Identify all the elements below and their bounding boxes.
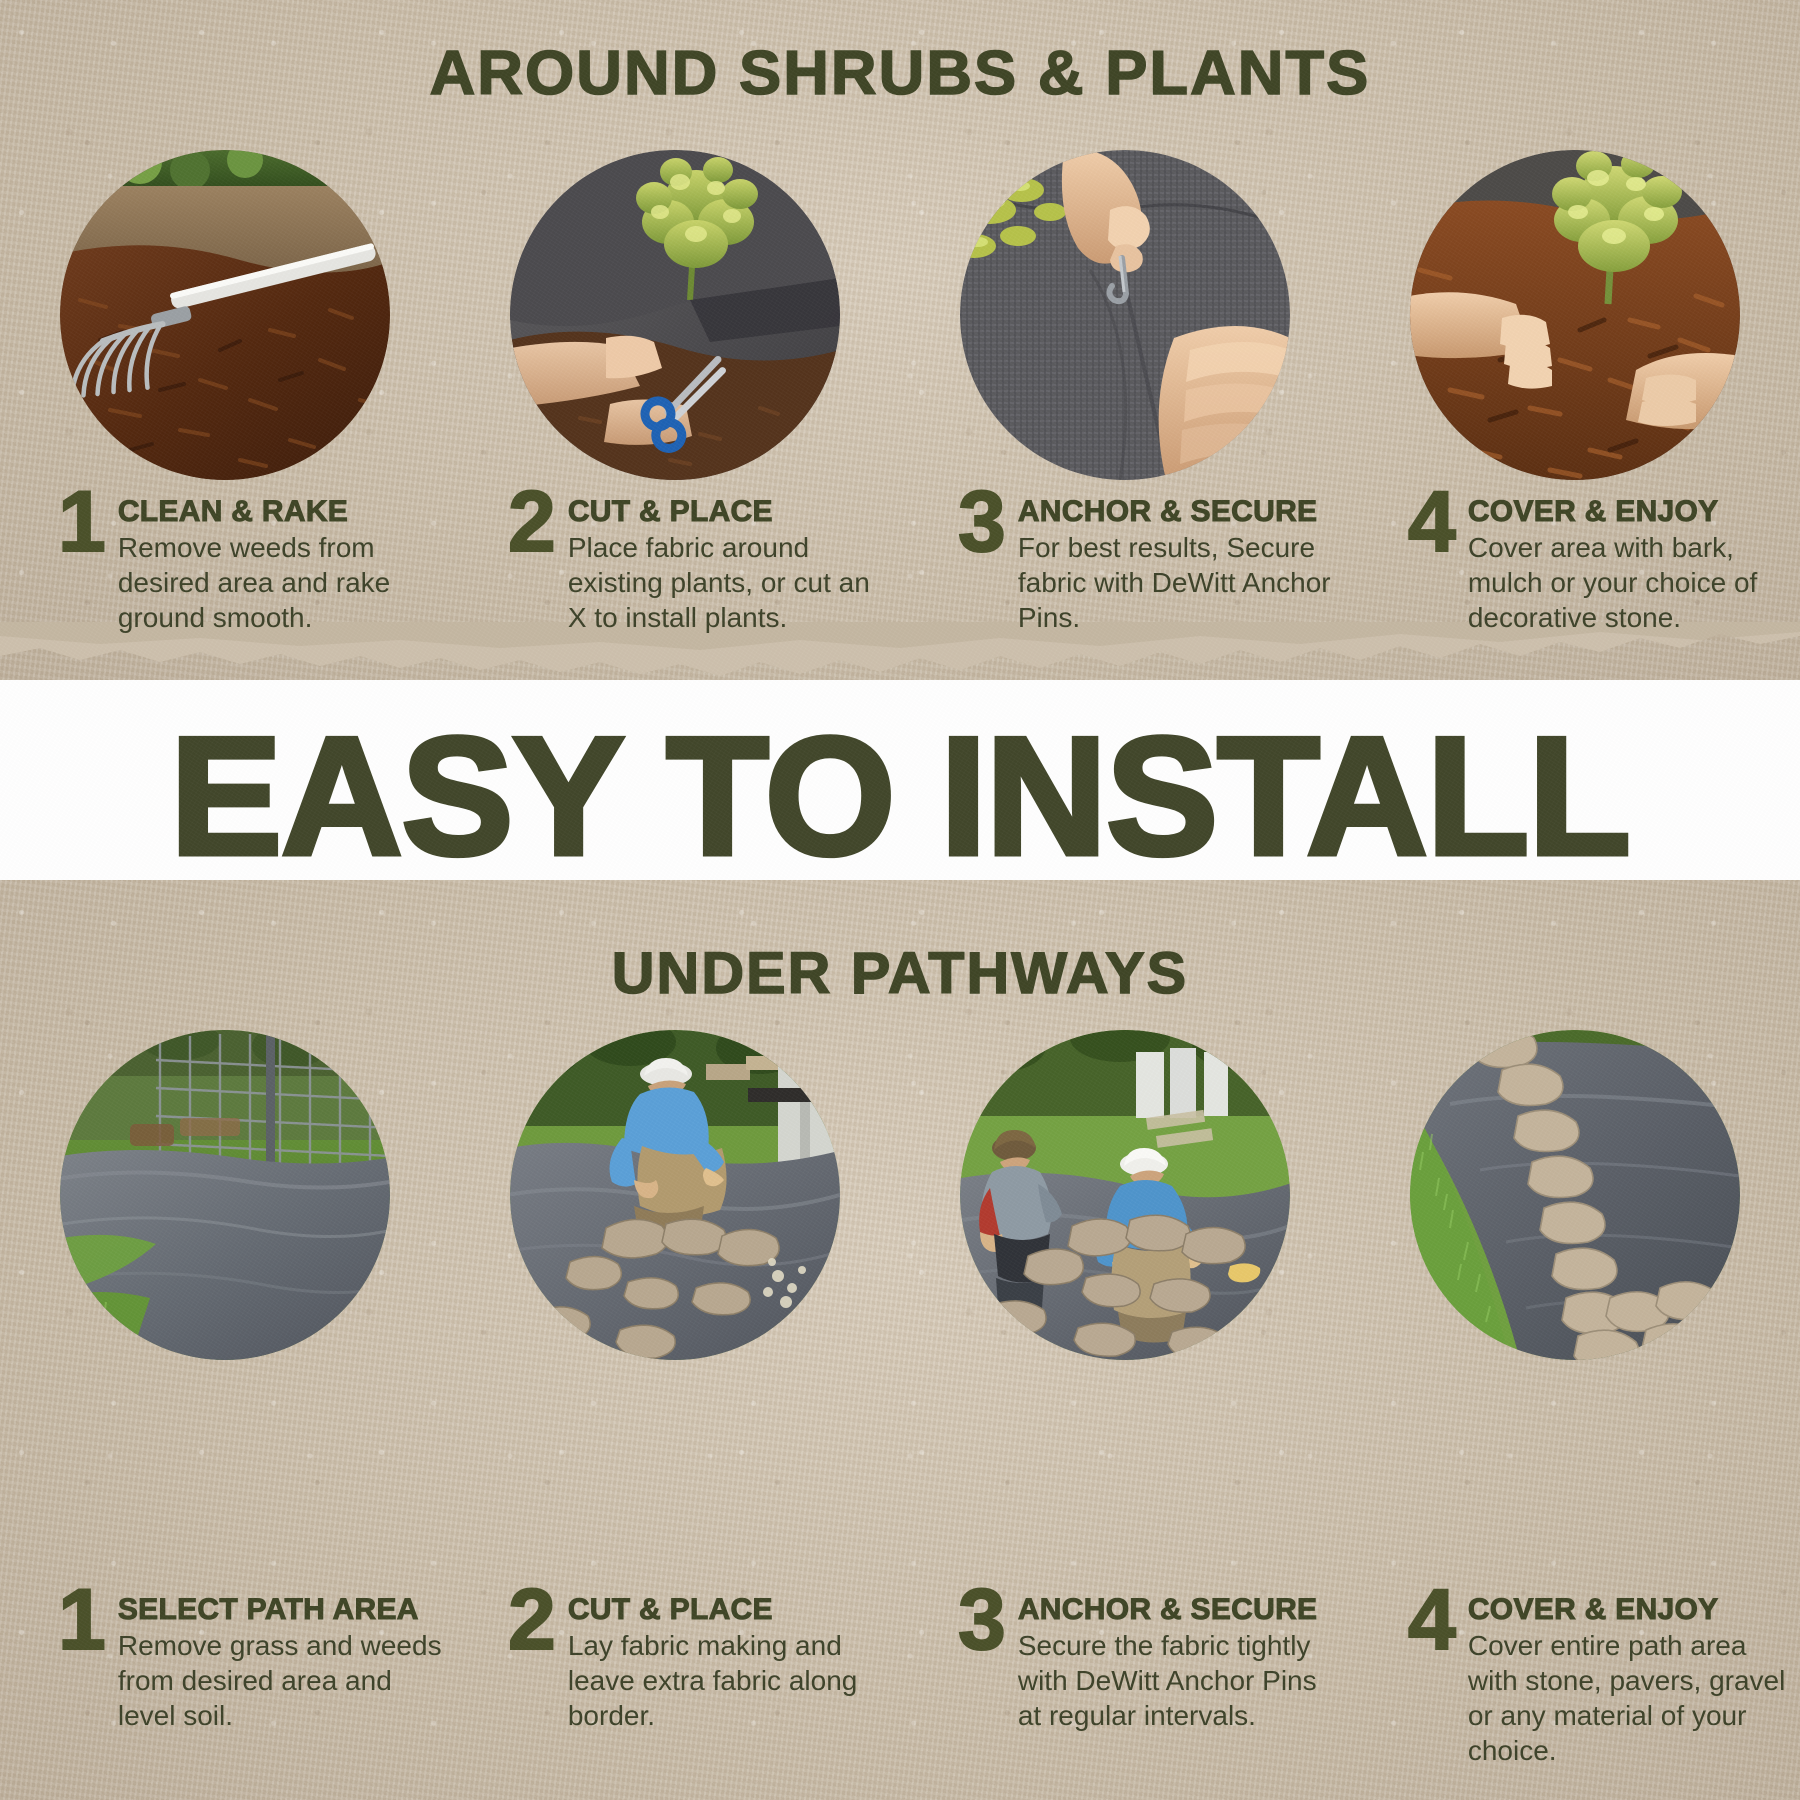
- step-title: COVER & ENJOY: [1468, 1594, 1794, 1626]
- step-title: ANCHOR & SECURE: [1018, 1594, 1344, 1626]
- infographic-poster: AROUND SHRUBS & PLANTS: [0, 0, 1800, 1800]
- step-description: Lay fabric making and leave extra fabric…: [568, 1628, 894, 1733]
- step-description: Secure the fabric tightly with DeWitt An…: [1018, 1628, 1344, 1733]
- step-list-shrubs: 1 CLEAN & RAKE Remove weeds from desired…: [0, 492, 1800, 635]
- photo-cell-shrubs-1: [0, 150, 450, 480]
- step-pathways-4: 4 COVER & ENJOY Cover entire path area w…: [1350, 1590, 1800, 1768]
- step-shrubs-3: 3 ANCHOR & SECURE For best results, Secu…: [900, 492, 1350, 635]
- step-title: CUT & PLACE: [568, 1594, 894, 1626]
- section-title-shrubs: AROUND SHRUBS & PLANTS: [0, 38, 1800, 109]
- step-description: Cover entire path area with stone, paver…: [1468, 1628, 1794, 1768]
- step-title: ANCHOR & SECURE: [1018, 496, 1344, 528]
- main-headline: EASY TO INSTALL: [0, 712, 1800, 880]
- photo-cut-and-place: [510, 150, 840, 480]
- step-number: 2: [508, 1584, 556, 1656]
- step-pathways-2: 2 CUT & PLACE Lay fabric making and leav…: [450, 1590, 900, 1768]
- step-title: SELECT PATH AREA: [118, 1594, 444, 1626]
- step-list-pathways: 1 SELECT PATH AREA Remove grass and weed…: [0, 1590, 1800, 1768]
- photo-cell-pathways-4: [1350, 1030, 1800, 1360]
- photo-cell-shrubs-4: [1350, 150, 1800, 480]
- photo-cover-and-enjoy-path: [1410, 1030, 1740, 1360]
- step-title: CUT & PLACE: [568, 496, 894, 528]
- step-description: Remove weeds from desired area and rake …: [118, 530, 444, 635]
- photo-anchor-and-secure-path: [960, 1030, 1290, 1360]
- photo-cell-shrubs-2: [450, 150, 900, 480]
- step-number: 2: [508, 486, 556, 558]
- step-shrubs-4: 4 COVER & ENJOY Cover area with bark, mu…: [1350, 492, 1800, 635]
- step-description: Remove grass and weeds from desired area…: [118, 1628, 444, 1733]
- photo-cell-shrubs-3: [900, 150, 1350, 480]
- step-title: COVER & ENJOY: [1468, 496, 1794, 528]
- step-description: Cover area with bark, mulch or your choi…: [1468, 530, 1794, 635]
- step-number: 3: [958, 486, 1006, 558]
- step-pathways-1: 1 SELECT PATH AREA Remove grass and weed…: [0, 1590, 450, 1768]
- photo-anchor-and-secure: [960, 150, 1290, 480]
- photo-clean-and-rake: [60, 150, 390, 480]
- step-pathways-3: 3 ANCHOR & SECURE Secure the fabric tigh…: [900, 1590, 1350, 1768]
- photo-cell-pathways-2: [450, 1030, 900, 1360]
- step-description: Place fabric around existing plants, or …: [568, 530, 894, 635]
- photo-select-path-area: [60, 1030, 390, 1360]
- photo-cut-and-place-path: [510, 1030, 840, 1360]
- photo-cover-and-enjoy: [1410, 150, 1740, 480]
- step-number: 1: [58, 1584, 106, 1656]
- step-title: CLEAN & RAKE: [118, 496, 444, 528]
- section-title-pathways: UNDER PATHWAYS: [0, 940, 1800, 1007]
- step-shrubs-1: 1 CLEAN & RAKE Remove weeds from desired…: [0, 492, 450, 635]
- photo-cell-pathways-3: [900, 1030, 1350, 1360]
- photo-cell-pathways-1: [0, 1030, 450, 1360]
- step-description: For best results, Secure fabric with DeW…: [1018, 530, 1344, 635]
- step-shrubs-2: 2 CUT & PLACE Place fabric around existi…: [450, 492, 900, 635]
- step-number: 4: [1408, 1584, 1456, 1656]
- photo-row-shrubs: [0, 150, 1800, 480]
- step-number: 3: [958, 1584, 1006, 1656]
- photo-row-pathways: [0, 1030, 1800, 1360]
- step-number: 1: [58, 486, 106, 558]
- step-number: 4: [1408, 486, 1456, 558]
